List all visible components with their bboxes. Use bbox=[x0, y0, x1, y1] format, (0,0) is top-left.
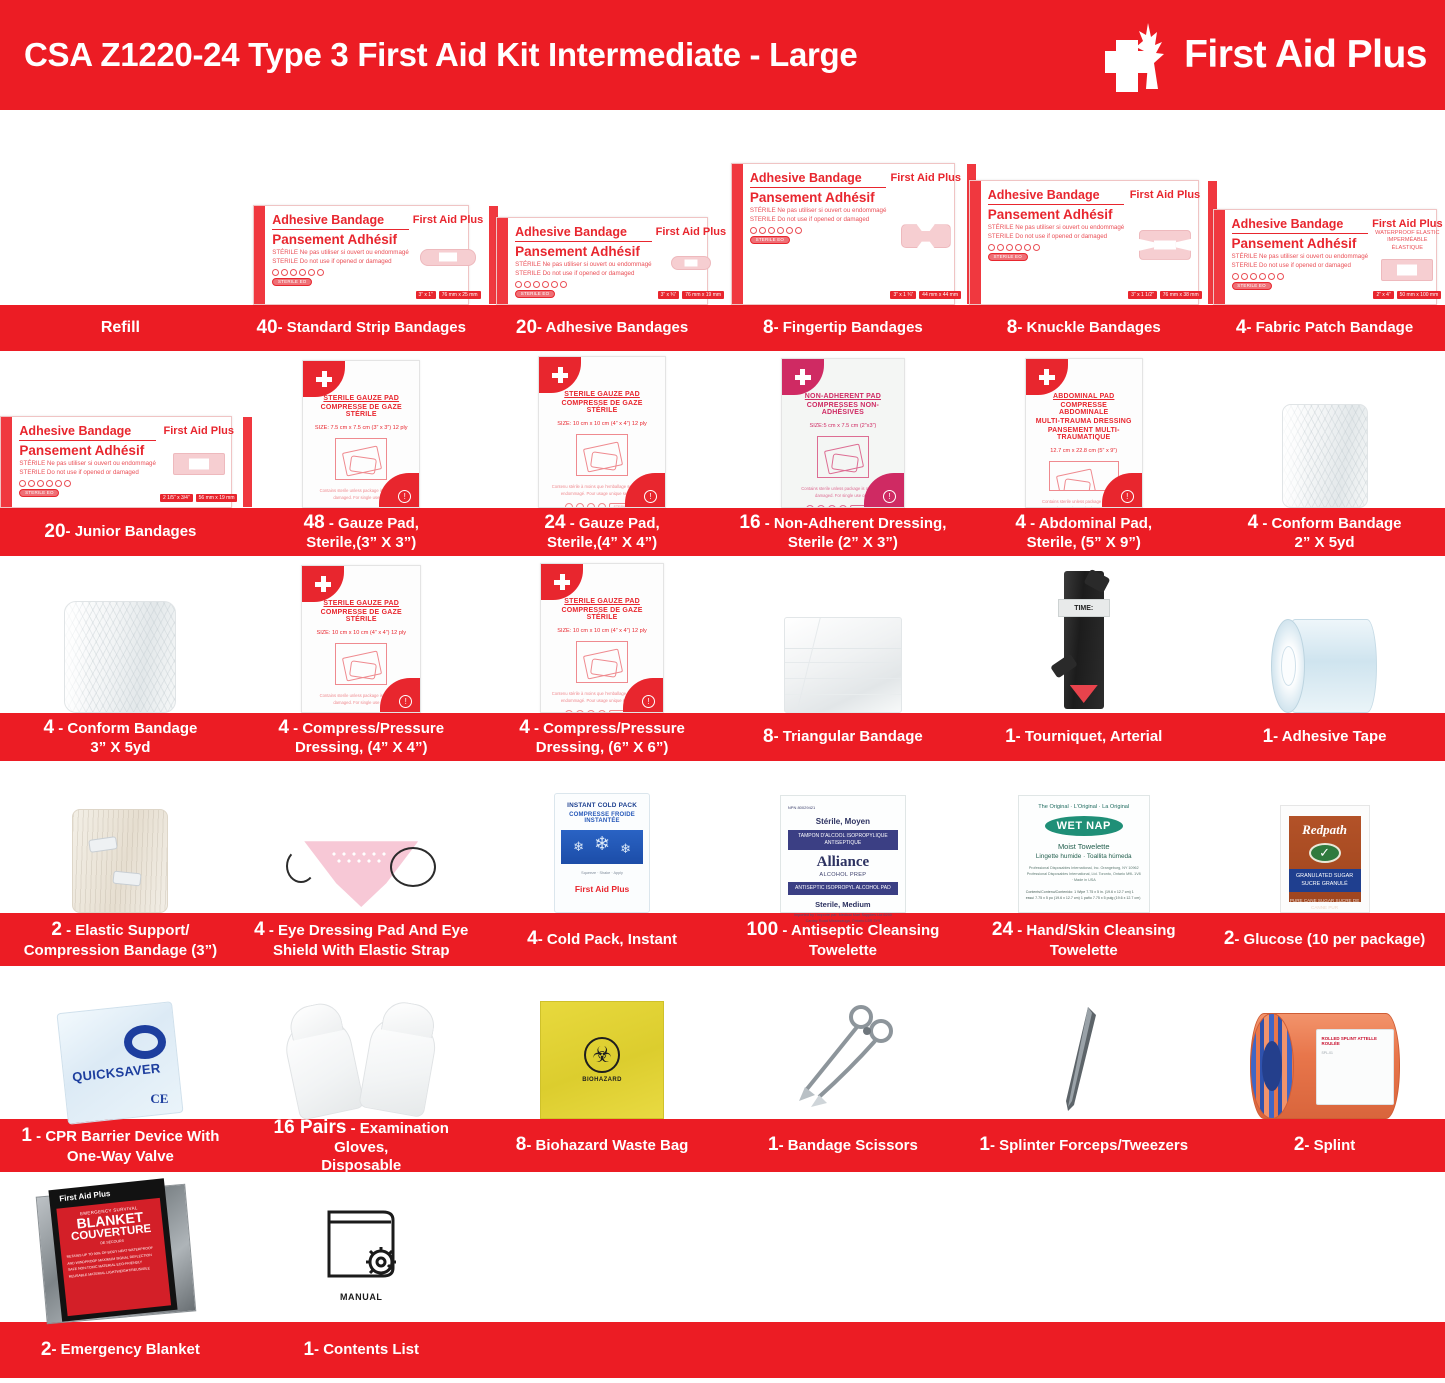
product-image-triangular-bandage bbox=[722, 617, 963, 713]
packet-symbol-icons bbox=[272, 269, 409, 276]
image-row-2: Adhesive Bandage Pansement Adhésif STÉRI… bbox=[0, 351, 1445, 508]
packet-stripe-left bbox=[254, 206, 265, 304]
pouch-size: SIZE: 10 cm x 10 cm (4” x 4”) 12 ply bbox=[557, 421, 647, 427]
manual-icon: MANUAL bbox=[313, 1206, 409, 1322]
instant-cold-pack: INSTANT COLD PACK COMPRESSE FROIDE INSTA… bbox=[554, 793, 650, 913]
blanket-features: RETAINS UP TO 90% OF BODY HEAT WATERPROO… bbox=[67, 1244, 163, 1280]
bandage-scissors bbox=[783, 1001, 903, 1119]
bandage-clip-icon bbox=[113, 871, 142, 887]
prep-band-en: ANTISEPTIC ISOPROPYL ALCOHOL PAD bbox=[788, 882, 898, 895]
label-row-6: 2 - Emergency Blanket 1 - Contents List bbox=[0, 1322, 1445, 1378]
sterile-badge: STERILE EO bbox=[19, 489, 59, 497]
label-empty bbox=[482, 1322, 723, 1378]
grid-row-4: INSTANT COLD PACK COMPRESSE FROIDE INSTA… bbox=[0, 761, 1445, 966]
product-image-cold-pack: INSTANT COLD PACK COMPRESSE FROIDE INSTA… bbox=[482, 793, 723, 913]
product-image-glucose: Redpath ✓ GRANULATED SUGAR SUCRE GRANULÉ… bbox=[1204, 805, 1445, 913]
splint-title: ROLLED SPLINT ATTELLE ROULÉE bbox=[1322, 1036, 1388, 1046]
size-imperial: 3” x ¾” bbox=[658, 291, 680, 299]
pouch-size: SIZE:5 cm x 7.5 cm (2”x3”) bbox=[809, 423, 876, 429]
wetnap-manufacturer: Professional Disposables International, … bbox=[1026, 865, 1142, 883]
packet-brand: First Aid Plus bbox=[163, 425, 234, 437]
packet-warning-fr: STÉRILE Ne pas utiliser si ouvert ou end… bbox=[988, 224, 1125, 233]
alcohol-prep-pad: NPN 80029421 Stérile, Moyen TAMPON D'ALC… bbox=[780, 795, 906, 913]
label-cpr-barrier: 1 - CPR Barrier Device With One-Way Valv… bbox=[0, 1119, 241, 1172]
label-adhesive-bandages: 20 - Adhesive Bandages bbox=[482, 305, 723, 351]
gauze-pad-pouch: STERILE GAUZE PAD COMPRESSE DE GAZE STÉR… bbox=[540, 563, 664, 713]
size-imperial: 3” x 1 ¾” bbox=[890, 291, 916, 299]
bandage-shape-strip-icon bbox=[420, 249, 476, 266]
packet-warning-en: STERILE Do not use if opened or damaged bbox=[272, 258, 409, 267]
pouch-size: SIZE: 10 cm x 10 cm (4” x 4”) 12 ply bbox=[316, 630, 406, 636]
triangular-bandage bbox=[784, 617, 902, 713]
size-metric: 44 mm x 44 mm bbox=[919, 291, 961, 299]
fabric-patch-bandage-packet: Adhesive Bandage Pansement Adhésif STÉRI… bbox=[1213, 209, 1437, 305]
wetnap-title-fr: Lingette humide · Toallita húmeda bbox=[1036, 853, 1132, 860]
pouch-title-en: STERILE GAUZE PAD bbox=[564, 598, 640, 605]
label-hand-cleansing-towelette: 24 - Hand/Skin Cleansing Towelette bbox=[963, 913, 1204, 966]
packet-brand: First Aid Plus bbox=[1372, 218, 1443, 230]
pouch-title-fr: COMPRESSE DE GAZE STÉRILE bbox=[551, 607, 653, 621]
pouch-title-fr: COMPRESSES NON-ADHÉSIVES bbox=[792, 402, 894, 416]
pad-illustration-icon bbox=[576, 641, 628, 683]
product-image-standard-strip-bandages: Adhesive Bandage Pansement Adhésif STÉRI… bbox=[241, 205, 482, 305]
grid-row-6: First Aid Plus EMERGENCY SURVIVAL BLANKE… bbox=[0, 1172, 1445, 1378]
gauze-pad-pouch: STERILE GAUZE PAD COMPRESSE DE GAZE STÉR… bbox=[301, 565, 421, 713]
packet-warning-fr: STÉRILE Ne pas utiliser si ouvert ou end… bbox=[19, 460, 156, 469]
label-row-2: 20 - Junior Bandages 48 - Gauze Pad, Ste… bbox=[0, 508, 1445, 556]
pouch-title-fr: COMPRESSE DE GAZE STÉRILE bbox=[312, 609, 410, 623]
product-image-hand-cleansing-towelette: The Original · L'Original · La Original … bbox=[963, 795, 1204, 913]
label-junior-bandages: 20 - Junior Bandages bbox=[0, 508, 241, 556]
packet-symbol-icons bbox=[1232, 273, 1369, 280]
packet-warning-fr: STÉRILE Ne pas utiliser si ouvert ou end… bbox=[1232, 253, 1369, 262]
exam-gloves bbox=[286, 1001, 436, 1119]
image-row-3: STERILE GAUZE PAD COMPRESSE DE GAZE STÉR… bbox=[0, 556, 1445, 713]
product-image-abdominal-pad: ABDOMINAL PAD COMPRESSE ABDOMINALE MULTI… bbox=[963, 358, 1204, 508]
size-metric: 56 mm x 19 mm bbox=[196, 494, 238, 502]
label-fingertip-bandages: 8 - Fingertip Bandages bbox=[722, 305, 963, 351]
image-row-5: QUICKSAVER CE ☣ BIOHAZARD bbox=[0, 966, 1445, 1119]
label-bandage-scissors: 1 - Bandage Scissors bbox=[722, 1119, 963, 1172]
packet-warning-fr: STÉRILE Ne pas utiliser si ouvert ou end… bbox=[515, 261, 652, 270]
product-image-compress-dressing-6in: STERILE GAUZE PAD COMPRESSE DE GAZE STÉR… bbox=[482, 563, 723, 713]
packet-size-badges: 3” x ¾” 76 mm x 19 mm bbox=[658, 291, 724, 299]
product-image-eye-shield bbox=[241, 835, 482, 913]
product-image-biohazard-bag: ☣ BIOHAZARD bbox=[482, 1001, 723, 1119]
packet-size-badges: 2 1/5” x 3/4” 56 mm x 19 mm bbox=[160, 494, 238, 502]
size-imperial: 3” x 1 1/2” bbox=[1128, 291, 1157, 299]
label-row-5: 1 - CPR Barrier Device With One-Way Valv… bbox=[0, 1119, 1445, 1172]
prep-brand: Alliance bbox=[817, 854, 870, 871]
packet-warning-en: STERILE Do not use if opened or damaged bbox=[988, 233, 1125, 242]
sterile-badge: STERILE EO bbox=[750, 236, 790, 244]
pouch-title-fr: COMPRESSE DE GAZE STÉRILE bbox=[313, 404, 409, 418]
packet-symbol-icons bbox=[19, 480, 156, 487]
pouch-size: SIZE: 10 cm x 10 cm (4” x 4”) 12 ply bbox=[557, 628, 647, 634]
label-tourniquet: 1 - Tourniquet, Arterial bbox=[963, 713, 1204, 761]
label-empty bbox=[722, 1322, 963, 1378]
product-image-gauze-pad-4in: STERILE GAUZE PAD COMPRESSE DE GAZE STÉR… bbox=[482, 356, 723, 508]
brand-name: First Aid Plus bbox=[1184, 33, 1427, 77]
pad-illustration-icon bbox=[335, 643, 387, 685]
product-image-splinter-forceps bbox=[963, 1001, 1204, 1119]
packet-title-fr: Pansement Adhésif bbox=[19, 443, 156, 458]
adhesive-bandage-packet: Adhesive Bandage Pansement Adhésif STÉRI… bbox=[253, 205, 469, 305]
prep-importer: Imported by / Importé par: Medical Mart … bbox=[788, 912, 898, 924]
product-image-exam-gloves bbox=[241, 1001, 482, 1119]
label-eye-shield: 4 - Eye Dressing Pad And Eye Shield With… bbox=[241, 913, 482, 966]
conform-roll bbox=[1282, 404, 1368, 508]
packet-title-en: Adhesive Bandage bbox=[1232, 217, 1369, 234]
wetnap-contents: Contents/Contenu/Contenido: 1 Wipe 7.75 … bbox=[1026, 889, 1142, 901]
splint-roll: ROLLED SPLINT ATTELLE ROULÉE SPL-01 bbox=[1250, 1013, 1400, 1119]
label-standard-strip-bandages: 40 - Standard Strip Bandages bbox=[241, 305, 482, 351]
packet-warning-en: STERILE Do not use if opened or damaged bbox=[19, 469, 156, 478]
pouch-title-en: NON-ADHERENT PAD bbox=[805, 393, 881, 400]
label-adhesive-tape: 1 - Adhesive Tape bbox=[1204, 713, 1445, 761]
bandage-shape-knuckle-icon bbox=[1139, 230, 1191, 260]
label-splint: 2 - Splint bbox=[1204, 1119, 1445, 1172]
cpr-barrier-device: QUICKSAVER CE bbox=[62, 1007, 178, 1119]
label-gauze-pad-4in: 24 - Gauze Pad, Sterile,(4” X 4”) bbox=[482, 508, 723, 556]
label-empty bbox=[963, 1322, 1204, 1378]
wet-nap-towelette: The Original · L'Original · La Original … bbox=[1018, 795, 1150, 913]
tourniquet: TIME: bbox=[1056, 567, 1112, 713]
label-fabric-patch-bandage: 4 - Fabric Patch Bandage bbox=[1204, 305, 1445, 351]
packet-warning-en: STERILE Do not use if opened or damaged bbox=[750, 216, 887, 225]
packet-size-badges: 2” x 4” 50 mm x 100 mm bbox=[1373, 291, 1441, 299]
label-compress-dressing-4in: 4 - Compress/Pressure Dressing, (4” X 4”… bbox=[241, 713, 482, 761]
sterile-badge: STERILE EO bbox=[1232, 282, 1272, 290]
size-metric: 76 mm x 19 mm bbox=[682, 291, 724, 299]
label-abdominal-pad: 4 - Abdominal Pad, Sterile, (5” X 9”) bbox=[963, 508, 1204, 556]
size-metric: 50 mm x 100 mm bbox=[1397, 291, 1442, 299]
packet-warning-fr: STÉRILE Ne pas utiliser si ouvert ou end… bbox=[750, 207, 887, 216]
grid-row-1: Adhesive Bandage Pansement Adhésif STÉRI… bbox=[0, 110, 1445, 351]
bandage-shape-fingertip-icon bbox=[901, 224, 951, 248]
eye-shield-vent-holes bbox=[330, 851, 392, 865]
packet-warning-en: STERILE Do not use if opened or damaged bbox=[1232, 262, 1369, 271]
packet-symbol-icons bbox=[515, 281, 652, 288]
label-refill: Refill bbox=[0, 305, 241, 351]
size-imperial: 2 1/5” x 3/4” bbox=[160, 494, 193, 502]
bandage-shape-strip-icon bbox=[671, 256, 711, 270]
packet-brand: First Aid Plus bbox=[1130, 189, 1201, 201]
product-image-fingertip-bandages: Adhesive Bandage Pansement Adhésif STÉRI… bbox=[722, 163, 963, 305]
elastic-bandage-roll bbox=[72, 809, 168, 913]
pouch-symbol-icons: STERILE EO bbox=[325, 507, 398, 508]
label-biohazard-bag: 8 - Biohazard Waste Bag bbox=[482, 1119, 723, 1172]
packet-stripe-left bbox=[497, 218, 508, 304]
packet-title-en: Adhesive Bandage bbox=[750, 171, 887, 188]
wetnap-logo: WET NAP bbox=[1045, 816, 1123, 836]
pouch-title-fr: COMPRESSE DE GAZE STÉRILE bbox=[549, 400, 655, 414]
wetnap-tagline: The Original · L'Original · La Original bbox=[1038, 804, 1129, 810]
product-image-tourniquet: TIME: bbox=[963, 567, 1204, 713]
label-compress-dressing-6in: 4 - Compress/Pressure Dressing, (6” X 6”… bbox=[482, 713, 723, 761]
wetnap-title-en: Moist Towelette bbox=[1058, 842, 1110, 851]
packet-title-fr: Pansement Adhésif bbox=[515, 244, 652, 259]
pouch-symbol-icons: STERILE EO bbox=[325, 712, 398, 713]
product-image-emergency-blanket: First Aid Plus EMERGENCY SURVIVAL BLANKE… bbox=[0, 1180, 241, 1322]
checkmark-seal-icon: ✓ bbox=[1309, 843, 1341, 863]
coldpack-instructions: Squeeze · Shake · Apply bbox=[581, 870, 623, 876]
bandage-shape-patch-icon bbox=[1381, 259, 1433, 281]
packet-symbol-icons bbox=[750, 227, 887, 234]
gauze-pad-pouch: STERILE GAUZE PAD COMPRESSE DE GAZE STÉR… bbox=[538, 356, 666, 508]
label-emergency-blanket: 2 - Emergency Blanket bbox=[0, 1322, 241, 1378]
tourniquet-time-label: TIME: bbox=[1074, 605, 1093, 612]
grid-row-5: QUICKSAVER CE ☣ BIOHAZARD bbox=[0, 966, 1445, 1172]
sugar-brand: Redpath bbox=[1302, 822, 1347, 838]
image-row-6: First Aid Plus EMERGENCY SURVIVAL BLANKE… bbox=[0, 1172, 1445, 1322]
splinter-forceps bbox=[1024, 1001, 1144, 1119]
pouch-title-en: STERILE GAUZE PAD bbox=[323, 395, 399, 402]
sugar-packet: Redpath ✓ GRANULATED SUGAR SUCRE GRANULÉ… bbox=[1280, 805, 1370, 913]
elastic-strap-left bbox=[286, 849, 316, 883]
page-header: CSA Z1220-24 Type 3 First Aid Kit Interm… bbox=[0, 0, 1445, 110]
size-imperial: 3” x 1” bbox=[416, 291, 436, 299]
emergency-blanket: First Aid Plus EMERGENCY SURVIVAL BLANKE… bbox=[25, 1180, 215, 1322]
sterile-badge: STERILE EO bbox=[988, 253, 1028, 261]
pouch-title-fr2: PANSEMENT MULTI-TRAUMATIQUE bbox=[1036, 427, 1132, 441]
packet-title-en: Adhesive Bandage bbox=[19, 424, 156, 441]
page-title: CSA Z1220-24 Type 3 First Aid Kit Interm… bbox=[24, 36, 857, 74]
adhesive-bandage-packet-small: Adhesive Bandage Pansement Adhésif STÉRI… bbox=[496, 217, 708, 305]
pouch-title-en: ABDOMINAL PAD bbox=[1053, 393, 1114, 400]
brand-block: First Aid Plus bbox=[1096, 18, 1427, 92]
product-image-junior-bandages: Adhesive Bandage Pansement Adhésif STÉRI… bbox=[0, 416, 241, 508]
gauze-pad-pouch: STERILE GAUZE PAD COMPRESSE DE GAZE STÉR… bbox=[302, 360, 420, 508]
product-image-fabric-patch-bandage: Adhesive Bandage Pansement Adhésif STÉRI… bbox=[1204, 209, 1445, 305]
packet-size-badges: 3” x 1” 76 mm x 25 mm bbox=[416, 291, 481, 299]
conform-roll-wide bbox=[64, 601, 176, 713]
packet-stripe-left bbox=[732, 164, 743, 304]
packet-warning-en: STERILE Do not use if opened or damaged bbox=[515, 270, 652, 279]
pouch-title-en: STERILE GAUZE PAD bbox=[323, 600, 399, 607]
coldpack-title-en: INSTANT COLD PACK bbox=[567, 802, 637, 809]
coldpack-brand: First Aid Plus bbox=[575, 884, 629, 894]
grid-row-3: STERILE GAUZE PAD COMPRESSE DE GAZE STÉR… bbox=[0, 556, 1445, 761]
label-elastic-bandage: 2 - Elastic Support/ Compression Bandage… bbox=[0, 913, 241, 966]
packet-stripe-left bbox=[970, 181, 981, 304]
sugar-band: GRANULATED SUGAR SUCRE GRANULÉ bbox=[1289, 869, 1361, 892]
pouch-size: SIZE: 7.5 cm x 7.5 cm (3” x 3”) 12 ply bbox=[315, 425, 408, 431]
label-splinter-forceps: 1 - Splinter Forceps/Tweezers bbox=[963, 1119, 1204, 1172]
label-row-3: 4 - Conform Bandage 3” X 5yd 4 - Compres… bbox=[0, 713, 1445, 761]
product-image-antiseptic-towelette: NPN 80029421 Stérile, Moyen TAMPON D'ALC… bbox=[722, 795, 963, 913]
pad-illustration-icon bbox=[817, 436, 869, 478]
adhesive-tape-roll bbox=[1271, 619, 1379, 713]
glove-left bbox=[281, 1013, 366, 1121]
packet-brand: First Aid Plus bbox=[413, 214, 484, 226]
maple-leaf-icon bbox=[1134, 23, 1164, 89]
pouch-title-en: STERILE GAUZE PAD bbox=[564, 391, 640, 398]
label-contents-list: 1 - Contents List bbox=[241, 1322, 482, 1378]
bandage-clip-icon bbox=[89, 836, 119, 853]
packet-title-en: Adhesive Bandage bbox=[272, 213, 409, 230]
packet-stripe-left bbox=[1, 417, 12, 507]
eye-shield bbox=[286, 835, 436, 913]
label-row-4: 2 - Elastic Support/ Compression Bandage… bbox=[0, 913, 1445, 966]
packet-waterproof-fr: IMPERMÉABLE ÉLASTIQUE bbox=[1372, 237, 1443, 252]
size-metric: 76 mm x 38 mm bbox=[1160, 291, 1202, 299]
packet-warning-fr: STÉRILE Ne pas utiliser si ouvert ou end… bbox=[272, 249, 409, 258]
packet-title-fr: Pansement Adhésif bbox=[1232, 236, 1369, 251]
product-image-elastic-bandage bbox=[0, 809, 241, 913]
blanket-brand: First Aid Plus bbox=[59, 1189, 111, 1203]
prep-title-fr: Stérile, Moyen bbox=[816, 817, 870, 826]
pouch-title-fr: COMPRESSE ABDOMINALE bbox=[1036, 402, 1132, 416]
packet-brand: First Aid Plus bbox=[656, 226, 727, 238]
product-image-compress-dressing-4in: STERILE GAUZE PAD COMPRESSE DE GAZE STÉR… bbox=[241, 565, 482, 713]
label-non-adherent-dressing: 16 - Non-Adherent Dressing, Sterile (2” … bbox=[722, 508, 963, 556]
product-image-adhesive-tape bbox=[1204, 619, 1445, 713]
knuckle-bandage-packet: Adhesive Bandage Pansement Adhésif STÉRI… bbox=[969, 180, 1199, 305]
elastic-strap-right bbox=[390, 847, 436, 887]
label-row-1: Refill 40 - Standard Strip Bandages 20 -… bbox=[0, 305, 1445, 351]
image-row-1: Adhesive Bandage Pansement Adhésif STÉRI… bbox=[0, 110, 1445, 305]
biohazard-icon: ☣ bbox=[584, 1037, 620, 1073]
size-metric: 76 mm x 25 mm bbox=[439, 291, 481, 299]
snowflake-graphic-icon: ❄ bbox=[561, 830, 643, 864]
packet-size-badges: 3” x 1 ¾” 44 mm x 44 mm bbox=[890, 291, 961, 299]
packet-title-en: Adhesive Bandage bbox=[515, 225, 652, 242]
packet-brand: First Aid Plus bbox=[890, 172, 961, 184]
packet-title-fr: Pansement Adhésif bbox=[272, 232, 409, 247]
prep-subtitle: ALCOHOL PREP bbox=[819, 872, 866, 878]
splint-label: ROLLED SPLINT ATTELLE ROULÉE SPL-01 bbox=[1316, 1029, 1394, 1105]
packet-title-fr: Pansement Adhésif bbox=[988, 207, 1125, 222]
image-row-4: INSTANT COLD PACK COMPRESSE FROIDE INSTA… bbox=[0, 761, 1445, 913]
packet-title-fr: Pansement Adhésif bbox=[750, 190, 887, 205]
medical-cross-maple-leaf-icon bbox=[1096, 18, 1174, 92]
packet-title-en: Adhesive Bandage bbox=[988, 188, 1125, 205]
manual-label: MANUAL bbox=[340, 1292, 383, 1302]
pouch-title-en2: MULTI-TRAUMA DRESSING bbox=[1036, 418, 1132, 425]
prep-title-en: Sterile, Medium bbox=[815, 900, 870, 909]
non-adherent-pouch: NON-ADHERENT PAD COMPRESSES NON-ADHÉSIVE… bbox=[781, 358, 905, 508]
abdominal-pad-pouch: ABDOMINAL PAD COMPRESSE ABDOMINALE MULTI… bbox=[1025, 358, 1143, 508]
label-triangular-bandage: 8 - Triangular Bandage bbox=[722, 713, 963, 761]
label-exam-gloves: 16 Pairs - Examination Gloves, Disposabl… bbox=[241, 1119, 482, 1172]
sugar-footer: PURE CANE SUGAR SUCRE DE CANNE PUR bbox=[1289, 897, 1361, 912]
ce-mark-icon: CE bbox=[150, 1091, 168, 1107]
label-glucose: 2 - Glucose (10 per package) bbox=[1204, 913, 1445, 966]
pouch-size: 12.7 cm x 22.8 cm (5” x 9”) bbox=[1050, 448, 1117, 454]
biohazard-label: BIOHAZARD bbox=[582, 1077, 622, 1083]
pad-illustration-icon bbox=[335, 438, 387, 480]
packet-stripe-left bbox=[1214, 210, 1225, 304]
size-imperial: 2” x 4” bbox=[1373, 291, 1393, 299]
npn-code: NPN 80029421 bbox=[788, 805, 815, 811]
packet-size-badges: 3” x 1 1/2” 76 mm x 38 mm bbox=[1128, 291, 1201, 299]
label-knuckle-bandages: 8 - Knuckle Bandages bbox=[963, 305, 1204, 351]
book-gear-icon bbox=[321, 1206, 401, 1284]
junior-bandage-packet: Adhesive Bandage Pansement Adhésif STÉRI… bbox=[0, 416, 232, 508]
sterile-badge: STERILE EO bbox=[515, 290, 555, 298]
label-conform-bandage-2in: 4 - Conform Bandage 2” X 5yd bbox=[1204, 508, 1445, 556]
product-image-knuckle-bandages: Adhesive Bandage Pansement Adhésif STÉRI… bbox=[963, 180, 1204, 305]
product-image-adhesive-bandages: Adhesive Bandage Pansement Adhésif STÉRI… bbox=[482, 217, 723, 305]
splint-code: SPL-01 bbox=[1322, 1051, 1388, 1057]
product-image-non-adherent-dressing: NON-ADHERENT PAD COMPRESSES NON-ADHÉSIVE… bbox=[722, 358, 963, 508]
grid-row-2: Adhesive Bandage Pansement Adhésif STÉRI… bbox=[0, 351, 1445, 556]
product-image-contents-list: MANUAL bbox=[241, 1206, 482, 1322]
product-image-conform-bandage-3in bbox=[0, 601, 241, 713]
packet-symbol-icons bbox=[988, 244, 1125, 251]
glove-right bbox=[358, 1012, 440, 1118]
coldpack-title-fr: COMPRESSE FROIDE INSTANTÉE bbox=[561, 812, 643, 824]
product-image-splint: ROLLED SPLINT ATTELLE ROULÉE SPL-01 bbox=[1204, 1013, 1445, 1119]
biohazard-bag: ☣ BIOHAZARD bbox=[540, 1001, 664, 1119]
label-conform-bandage-3in: 4 - Conform Bandage 3” X 5yd bbox=[0, 713, 241, 761]
prep-band-fr: TAMPON D'ALCOOL ISOPROPYLIQUE ANTISEPTIQ… bbox=[788, 830, 898, 850]
label-cold-pack: 4 - Cold Pack, Instant bbox=[482, 913, 723, 966]
product-image-gauze-pad-3in: STERILE GAUZE PAD COMPRESSE DE GAZE STÉR… bbox=[241, 360, 482, 508]
bandage-shape-junior-icon bbox=[173, 453, 225, 475]
product-image-cpr-barrier: QUICKSAVER CE bbox=[0, 1007, 241, 1119]
pad-illustration-icon bbox=[576, 434, 628, 476]
product-image-bandage-scissors bbox=[722, 1001, 963, 1119]
label-gauze-pad-3in: 48 - Gauze Pad, Sterile,(3” X 3”) bbox=[241, 508, 482, 556]
product-image-conform-bandage-2in bbox=[1204, 404, 1445, 508]
label-empty bbox=[1204, 1322, 1445, 1378]
fingertip-bandage-packet: Adhesive Bandage Pansement Adhésif STÉRI… bbox=[731, 163, 955, 305]
sterile-badge: STERILE EO bbox=[272, 278, 312, 286]
